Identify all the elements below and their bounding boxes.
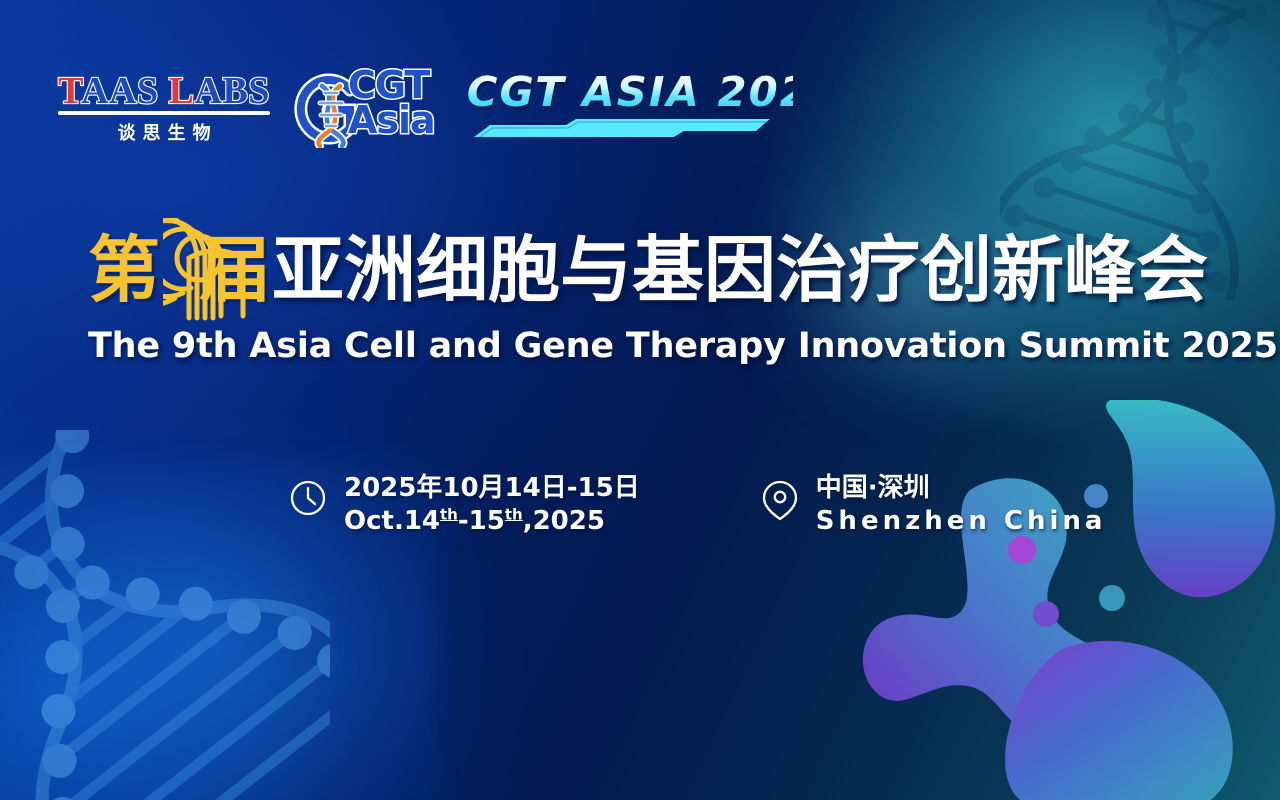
event-venue-text: 中国·深圳 Shenzhen China: [816, 472, 1107, 537]
title-prefix: 第: [88, 234, 161, 306]
date-en-mid: -15: [458, 506, 505, 536]
cgt-asia-2025-wordmark[interactable]: CGT ASIA 2025: [470, 72, 790, 141]
event-venue-chinese: 中国·深圳: [816, 472, 1107, 505]
event-venue-item: 中国·深圳 Shenzhen China: [760, 472, 1107, 537]
taas-labs-wordmark: TAAS LABS: [58, 72, 270, 110]
header-logo-bar: TAAS LABS 谈思生物: [0, 0, 1280, 170]
dna-helix-bottom-left-icon: [0, 430, 330, 800]
taas-t: T: [58, 70, 81, 112]
taas-l: L: [169, 70, 195, 112]
page-title-english: The 9th Asia Cell and Gene Therapy Innov…: [88, 326, 1208, 366]
date-en-suffix: ,2025: [523, 506, 605, 536]
molecule-blob-cluster: [810, 400, 1280, 800]
cgt-asia-2025-underline-bar: [470, 119, 770, 141]
location-pin-icon: [760, 478, 800, 527]
event-info-row: 2025年10月14日-15日 Oct.14th-15th,2025 中国·深圳…: [288, 472, 1106, 537]
page-title-chinese: 第 届 亚洲细胞与基因治疗创新峰会: [88, 222, 1208, 318]
date-sup-1: th: [440, 505, 458, 523]
taas-labs-logo[interactable]: TAAS LABS 谈思生物: [58, 72, 270, 145]
title-block: 第 届 亚洲细胞与基因治疗创新峰会 The 9th Asia Cell and …: [88, 222, 1208, 366]
cgt-logo-line2: Asia: [348, 103, 435, 138]
event-date-english: Oct.14th-15th,2025: [344, 505, 640, 538]
taas-abs: ABS: [195, 70, 270, 112]
cgt-asia-2025-text: CGT ASIA 2025: [467, 72, 793, 113]
date-sup-2: th: [505, 505, 523, 523]
conference-banner: TAAS LABS 谈思生物: [0, 0, 1280, 800]
taas-aas: AAS: [81, 70, 159, 112]
event-date-chinese: 2025年10月14日-15日: [344, 472, 640, 505]
cgt-asia-logo-text: CGT Asia: [348, 68, 435, 138]
cgt-asia-logo[interactable]: CGT Asia: [288, 70, 448, 150]
event-venue-english: Shenzhen China: [816, 505, 1107, 538]
ordinal-nine-graphic: [163, 222, 197, 318]
date-en-prefix: Oct.14: [344, 506, 440, 536]
title-main-chinese: 亚洲细胞与基因治疗创新峰会: [272, 234, 1208, 306]
event-date-item: 2025年10月14日-15日 Oct.14th-15th,2025: [288, 472, 640, 537]
taas-chinese-name: 谈思生物: [58, 119, 270, 145]
event-date-text: 2025年10月14日-15日 Oct.14th-15th,2025: [344, 472, 640, 537]
clock-icon: [288, 478, 328, 523]
